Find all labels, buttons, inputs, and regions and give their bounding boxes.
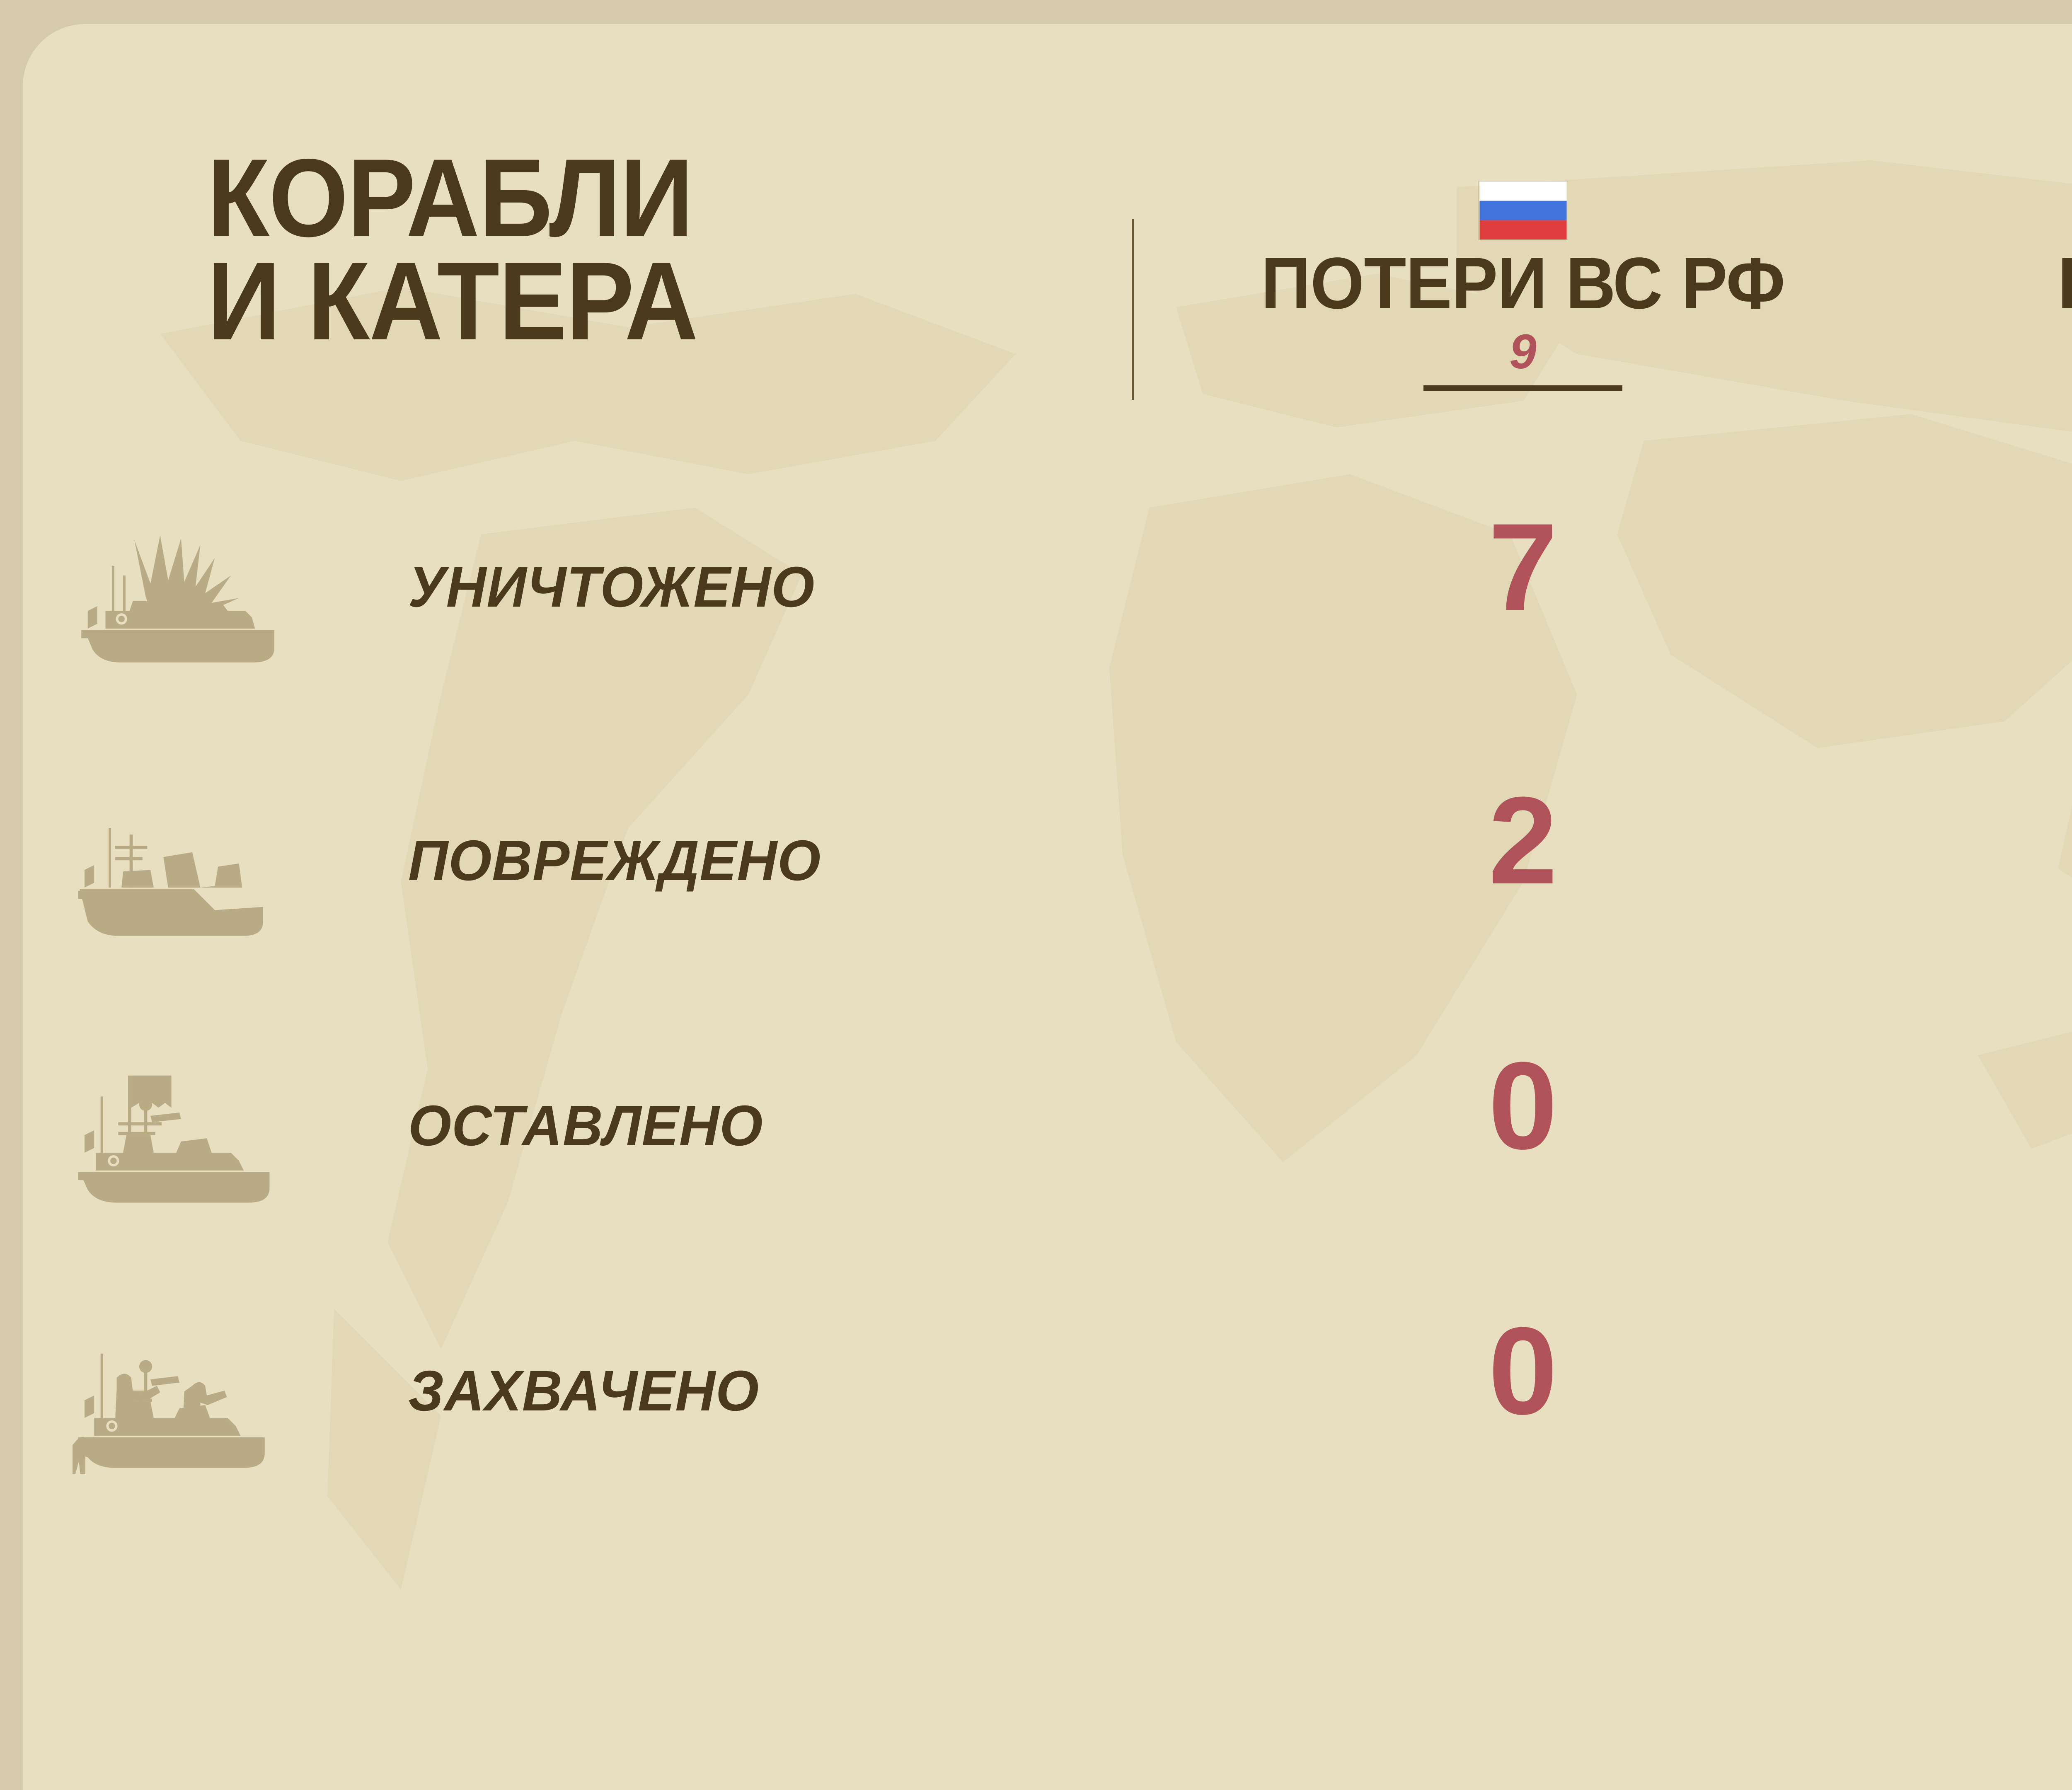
cell-russia-destroyed: 7: [1150, 505, 1896, 629]
russia-flag-icon: [1479, 181, 1568, 239]
ship-abandoned-icon: [73, 1072, 396, 1209]
row-label-destroyed: УНИЧТОЖЕНО: [408, 554, 815, 620]
cell-ukraine-damaged: 0: [1937, 778, 2072, 902]
table-row: УНИЧТОЖЕНО 7 5: [23, 534, 2072, 670]
table-row: ПОВРЕЖДЕНО 2 0: [23, 807, 2072, 944]
table-row: ОСТАВЛЕНО 0 0: [23, 1072, 2072, 1209]
cell-russia-captured: 0: [1150, 1309, 1896, 1433]
cell-ukraine-destroyed: 5: [1937, 505, 2072, 629]
cell-russia-abandoned: 0: [1150, 1043, 1896, 1168]
column-title-russia: ПОТЕРИ ВС РФ: [1169, 247, 1877, 320]
cell-russia-damaged: 2: [1150, 778, 1896, 902]
ship-destroyed-icon: [73, 534, 396, 670]
column-total-underline-russia: [1423, 385, 1622, 391]
infographic-panel: КОРАБЛИ И КАТЕРА ПОТЕРИ ВС РФ 9 ПОТЕРИ В…: [23, 24, 2072, 1790]
column-total-russia: 9: [1150, 327, 1896, 376]
column-header-russia: ПОТЕРИ ВС РФ 9: [1150, 181, 1896, 391]
ship-captured-icon: [73, 1338, 396, 1474]
row-label-captured: ЗАХВАЧЕНО: [408, 1358, 759, 1424]
row-label-damaged: ПОВРЕЖДЕНО: [408, 828, 821, 894]
cell-ukraine-abandoned: 0: [1937, 1043, 2072, 1168]
row-label-abandoned: ОСТАВЛЕНО: [408, 1093, 763, 1159]
column-total-ukraine: 18: [1937, 327, 2072, 376]
column-title-ukraine: ПОТЕРИ ВСУ: [1954, 247, 2072, 320]
column-header-ukraine: ПОТЕРИ ВСУ 18: [1937, 181, 2072, 391]
cell-ukraine-captured: 13: [1937, 1309, 2072, 1433]
header-divider: [1132, 219, 1134, 400]
page-title: КОРАБЛИ И КАТЕРА: [207, 146, 1027, 353]
table-row: ЗАХВАЧЕНО 0 13: [23, 1338, 2072, 1474]
ship-damaged-icon: [73, 807, 396, 944]
